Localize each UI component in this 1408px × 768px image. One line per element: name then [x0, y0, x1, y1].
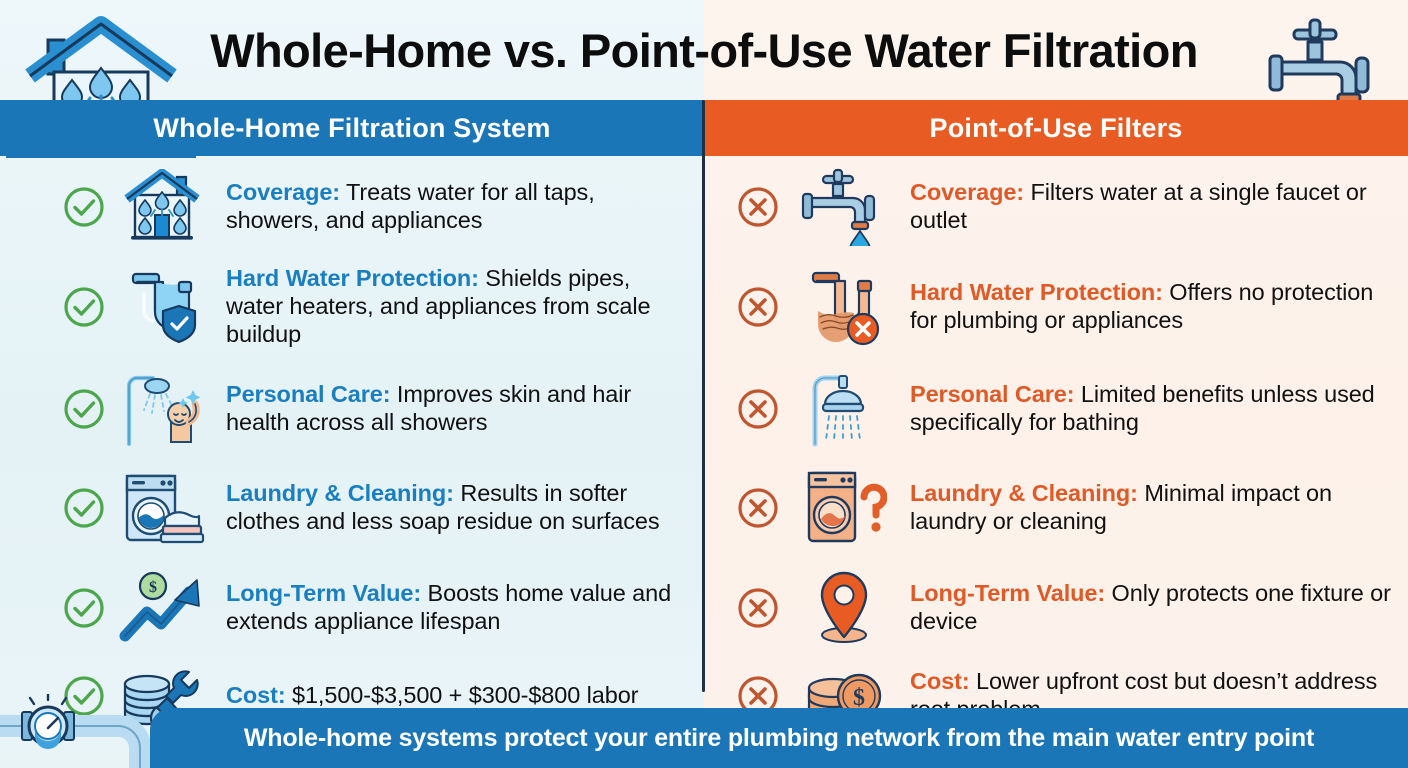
house-water-drops-icon: [116, 169, 208, 245]
list-item-label: Long-Term Value:: [910, 580, 1105, 606]
left-header-label: Whole-Home Filtration System: [153, 113, 550, 144]
list-item: Coverage: Filters water at a single fauc…: [704, 156, 1408, 258]
list-item-label: Personal Care:: [910, 381, 1074, 407]
shower-person-icon: [116, 370, 208, 448]
list-item: $ Long-Term Value: Boosts home value and…: [0, 558, 704, 658]
check-circle-icon: [56, 486, 112, 530]
list-item: Laundry & Cleaning: Minimal impact on la…: [704, 452, 1408, 564]
pipe-shield-icon: [116, 268, 208, 346]
list-item-text: Cost: $1,500-$3,500 + $300-$800 labor: [226, 682, 704, 710]
check-circle-icon: [56, 586, 112, 630]
list-item-label: Cost:: [226, 682, 286, 708]
list-item: Hard Water Protection: Shields pipes, wa…: [0, 252, 704, 362]
list-item-text: Personal Care: Improves skin and hair he…: [226, 381, 704, 437]
list-item-label: Laundry & Cleaning:: [226, 480, 454, 506]
cross-circle-icon: [730, 185, 786, 229]
list-item-text: Hard Water Protection: Shields pipes, wa…: [226, 265, 704, 349]
washing-machine-question-icon: [798, 467, 890, 549]
list-item: Personal Care: Improves skin and hair he…: [0, 358, 704, 460]
list-item: Personal Care: Limited benefits unless u…: [704, 358, 1408, 460]
location-pin-icon: [798, 569, 890, 647]
page-title: Whole-Home vs. Point-of-Use Water Filtra…: [0, 0, 1408, 100]
list-item-text: Laundry & Cleaning: Minimal impact on la…: [910, 480, 1408, 536]
cross-circle-icon: [730, 486, 786, 530]
left-rows: Coverage: Treats water for all taps, sho…: [0, 156, 704, 692]
list-item-text: Hard Water Protection: Offers no protect…: [910, 279, 1408, 335]
list-item: Long-Term Value: Only protects one fixtu…: [704, 558, 1408, 658]
list-item-label: Personal Care:: [226, 381, 390, 407]
list-item-label: Long-Term Value:: [226, 580, 421, 606]
list-item: Hard Water Protection: Offers no protect…: [704, 252, 1408, 362]
right-rows: Coverage: Filters water at a single fauc…: [704, 156, 1408, 692]
list-item-text: Long-Term Value: Only protects one fixtu…: [910, 580, 1408, 636]
right-header-label: Point-of-Use Filters: [929, 113, 1182, 144]
list-item-label: Coverage:: [226, 179, 340, 205]
list-item-label: Hard Water Protection:: [910, 279, 1163, 305]
faucet-drop-icon: [798, 168, 890, 246]
left-column-header: Whole-Home Filtration System: [0, 100, 704, 156]
title-band: Whole-Home vs. Point-of-Use Water Filtra…: [0, 0, 1408, 100]
check-circle-icon: [56, 285, 112, 329]
list-item-text: Personal Care: Limited benefits unless u…: [910, 381, 1408, 437]
washing-machine-laundry-icon: [116, 468, 208, 548]
list-item: Coverage: Treats water for all taps, sho…: [0, 156, 704, 258]
check-circle-icon: [56, 387, 112, 431]
svg-text:$: $: [149, 579, 157, 596]
list-item-label: Cost:: [910, 668, 970, 694]
list-item-body: $1,500-$3,500 + $300-$800 labor: [286, 682, 639, 708]
cross-circle-icon: [730, 387, 786, 431]
list-item-label: Coverage:: [910, 179, 1024, 205]
check-circle-icon: [56, 185, 112, 229]
list-item-text: Laundry & Cleaning: Results in softer cl…: [226, 480, 704, 536]
right-column-header: Point-of-Use Filters: [704, 100, 1408, 156]
list-item-text: Long-Term Value: Boosts home value and e…: [226, 580, 704, 636]
clogged-pipe-x-icon: [798, 267, 890, 347]
pipe-pressure-gauge-icon: [0, 694, 175, 768]
shower-head-icon: [798, 370, 890, 448]
list-item-text: Coverage: Treats water for all taps, sho…: [226, 179, 704, 235]
infographic-root: Whole-Home vs. Point-of-Use Water Filtra…: [0, 0, 1408, 768]
bottom-banner-text: Whole-home systems protect your entire p…: [244, 724, 1314, 753]
bottom-banner: Whole-home systems protect your entire p…: [150, 708, 1408, 768]
list-item-label: Hard Water Protection:: [226, 265, 479, 291]
list-item-label: Laundry & Cleaning:: [910, 480, 1138, 506]
growth-arrow-money-icon: $: [116, 570, 208, 646]
cross-circle-icon: [730, 285, 786, 329]
cross-circle-icon: [730, 586, 786, 630]
list-item: Laundry & Cleaning: Results in softer cl…: [0, 452, 704, 564]
list-item-text: Coverage: Filters water at a single fauc…: [910, 179, 1408, 235]
